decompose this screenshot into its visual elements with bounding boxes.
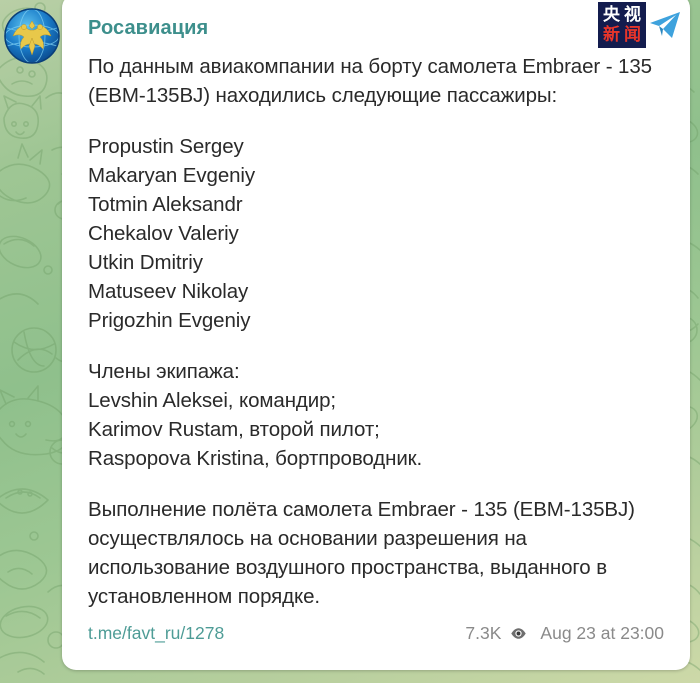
passenger-list: Propustin Sergey Makaryan Evgeniy Totmin… bbox=[88, 132, 664, 335]
crew-section: Члены экипажа: Levshin Aleksei, командир… bbox=[88, 357, 664, 473]
list-item: Totmin Aleksandr bbox=[88, 190, 664, 219]
closing-paragraph: Выполнение полёта самолета Embraer - 135… bbox=[88, 495, 664, 611]
cctv-char-wen: 闻 bbox=[622, 25, 643, 45]
intro-paragraph: По данным авиакомпании на борту самолета… bbox=[88, 52, 664, 110]
list-item: Utkin Dmitriy bbox=[88, 248, 664, 277]
list-item: Levshin Aleksei, командир; bbox=[88, 386, 664, 415]
list-item: Propustin Sergey bbox=[88, 132, 664, 161]
cctv-char-xin: 新 bbox=[601, 25, 622, 45]
list-item: Matuseev Nikolay bbox=[88, 277, 664, 306]
list-item: Raspopova Kristina, бортпроводник. bbox=[88, 444, 664, 473]
list-item: Karimov Rustam, второй пилот; bbox=[88, 415, 664, 444]
list-item: Prigozhin Evgeniy bbox=[88, 306, 664, 335]
list-item: Chekalov Valeriy bbox=[88, 219, 664, 248]
cctv-char-yang: 央 bbox=[601, 5, 622, 25]
post-link[interactable]: t.me/favt_ru/1278 bbox=[88, 623, 224, 644]
message-meta: 7.3K Aug 23 at 23:00 bbox=[465, 623, 664, 644]
watermark-group: 央 视 新 闻 bbox=[598, 2, 682, 48]
list-item: Makaryan Evgeniy bbox=[88, 161, 664, 190]
message-footer: t.me/favt_ru/1278 7.3K Aug 23 at 23:00 bbox=[88, 623, 664, 644]
telegram-plane-icon bbox=[648, 8, 682, 42]
rosaviatsia-emblem-icon bbox=[4, 8, 60, 64]
timestamp: Aug 23 at 23:00 bbox=[540, 623, 664, 644]
avatar[interactable] bbox=[4, 8, 60, 64]
cctv-news-logo: 央 视 新 闻 bbox=[598, 2, 646, 48]
cctv-char-shi: 视 bbox=[622, 5, 643, 25]
message-body: По данным авиакомпании на борту самолета… bbox=[88, 52, 664, 611]
message-bubble[interactable]: 央 视 新 闻 Росавиация По данным авиакомпани… bbox=[62, 0, 690, 670]
view-count: 7.3K bbox=[465, 623, 501, 644]
eye-icon bbox=[510, 625, 527, 642]
channel-title[interactable]: Росавиация bbox=[88, 16, 664, 40]
crew-heading: Члены экипажа: bbox=[88, 357, 664, 386]
